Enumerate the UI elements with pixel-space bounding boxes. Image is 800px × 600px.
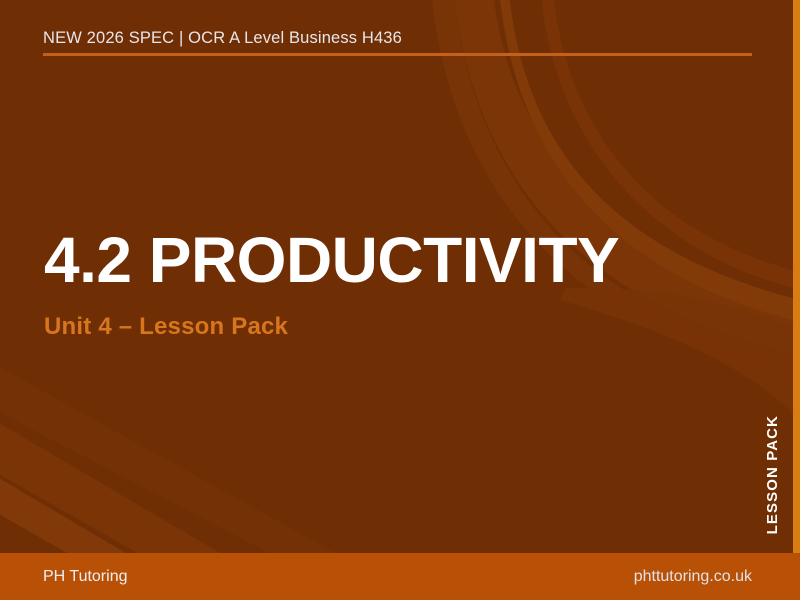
slide-header-text: NEW 2026 SPEC | OCR A Level Business H43… <box>43 29 402 48</box>
slide-footer-bar: PH Tutoring phttutoring.co.uk <box>0 553 800 600</box>
slide-subtitle: Unit 4 – Lesson Pack <box>44 313 744 341</box>
footer-brand-name: PH Tutoring <box>43 568 127 586</box>
vertical-side-label: LESSON PACK <box>761 408 783 542</box>
right-accent-stripe <box>793 0 800 553</box>
slide-title: 4.2 PRODUCTIVITY <box>44 228 744 293</box>
vertical-side-label-text: LESSON PACK <box>764 415 781 534</box>
header-divider-rule <box>43 53 752 56</box>
footer-website-url: phttutoring.co.uk <box>634 568 752 586</box>
presentation-slide: NEW 2026 SPEC | OCR A Level Business H43… <box>0 0 800 600</box>
title-block: 4.2 PRODUCTIVITY Unit 4 – Lesson Pack <box>44 228 744 341</box>
